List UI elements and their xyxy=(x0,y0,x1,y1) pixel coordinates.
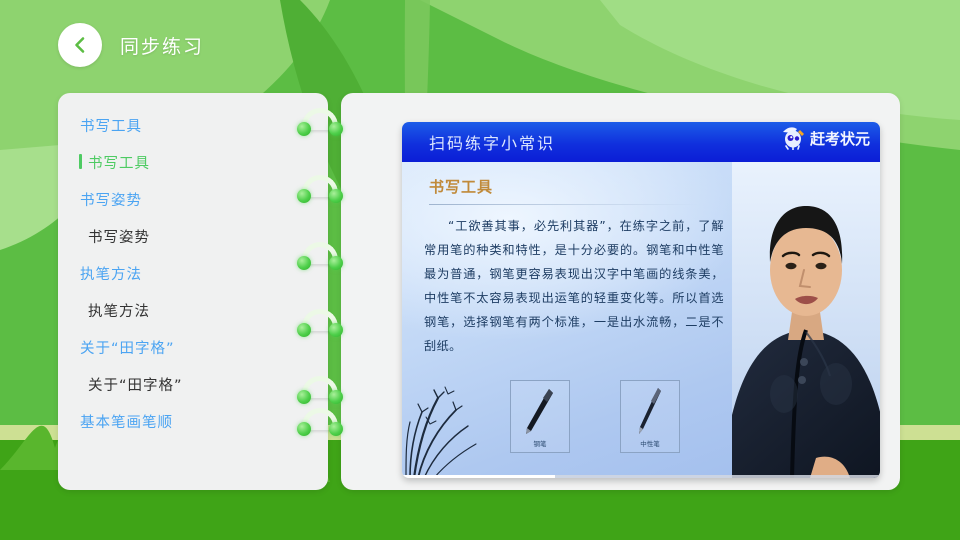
binder-ring xyxy=(296,406,344,440)
binder-ring xyxy=(296,240,344,274)
pen-illustration-box: 钢笔 xyxy=(510,380,570,453)
orchid-ink-painting-icon xyxy=(404,368,494,478)
binder-ring xyxy=(296,307,344,341)
binder-ring xyxy=(296,173,344,207)
presenter-icon xyxy=(732,162,880,478)
video-header-title: 扫码练字小常识 xyxy=(429,130,555,154)
toc-item-7[interactable]: 关于“田字格” xyxy=(58,366,328,403)
mascot-icon xyxy=(781,126,807,150)
slide-paragraph: “工欲善其事，必先利其器”，在练字之前，了解常用笔的种类和特性，是十分必要的。钢… xyxy=(424,214,724,358)
fountain-pen-icon xyxy=(511,381,569,443)
back-button[interactable] xyxy=(58,23,102,67)
toc-item-4[interactable]: 执笔方法 xyxy=(58,255,328,292)
toc-item-2[interactable]: 书写姿势 xyxy=(58,181,328,218)
toc-item-8[interactable]: 基本笔画笔顺 xyxy=(58,403,328,440)
toc-item-3[interactable]: 书写姿势 xyxy=(58,218,328,255)
toc-item-1-active[interactable]: 书写工具 xyxy=(58,144,328,181)
spiral-binder xyxy=(296,93,344,493)
toc-list: 书写工具 书写工具 书写姿势 书写姿势 执笔方法 执笔方法 关于“田字格” 关于… xyxy=(58,93,328,440)
presenter-video-area xyxy=(732,162,880,478)
toc-panel: 书写工具 书写工具 书写姿势 书写姿势 执笔方法 执笔方法 关于“田字格” 关于… xyxy=(58,93,328,490)
slide-divider xyxy=(429,204,699,205)
pen-label: 中性笔 xyxy=(621,438,679,448)
toc-item-5[interactable]: 执笔方法 xyxy=(58,292,328,329)
video-progress-bar[interactable] xyxy=(402,475,880,478)
gel-pen-icon xyxy=(621,381,679,443)
video-progress-fill xyxy=(402,475,555,478)
toc-item-0[interactable]: 书写工具 xyxy=(58,107,328,144)
slide-title: 书写工具 xyxy=(429,176,493,197)
pen-illustration-box: 中性笔 xyxy=(620,380,680,453)
brand-logo: 赶考状元 xyxy=(781,126,870,150)
binder-ring xyxy=(296,106,344,140)
pen-label: 钢笔 xyxy=(511,438,569,448)
video-header-bar: 扫码练字小常识 赶考状元 xyxy=(402,122,880,162)
binder-ring xyxy=(296,374,344,408)
toc-item-6[interactable]: 关于“田字格” xyxy=(58,329,328,366)
video-slide: 书写工具 “工欲善其事，必先利其器”，在练字之前，了解常用笔的种类和特性，是十分… xyxy=(402,162,880,478)
page-title: 同步练习 xyxy=(120,32,204,59)
video-player[interactable]: 扫码练字小常识 赶考状元 书写工具 “工欲善其事，必先利其器”，在练字之前，了解… xyxy=(402,122,880,478)
chevron-left-icon xyxy=(70,35,90,55)
top-bar: 同步练习 xyxy=(0,0,960,90)
brand-name: 赶考状元 xyxy=(810,128,870,149)
